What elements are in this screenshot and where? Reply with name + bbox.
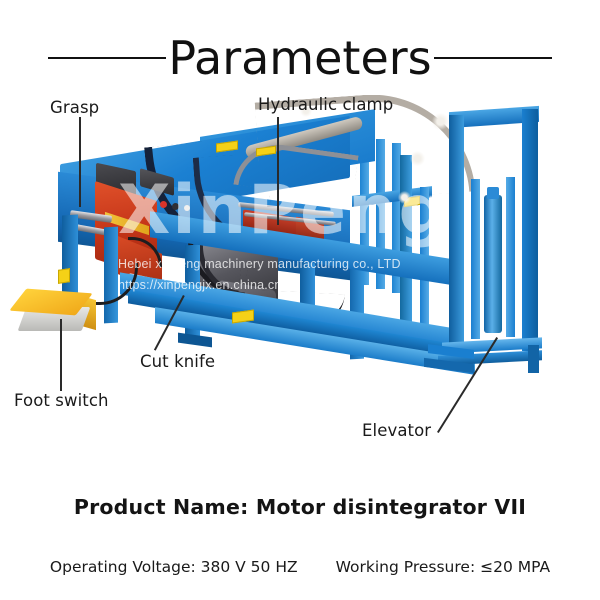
leader-line-hydraulic-clamp <box>277 117 279 225</box>
indicator-lamp <box>160 201 167 208</box>
leader-line-foot-switch <box>60 319 62 391</box>
callout-label-foot-switch: Foot switch <box>14 391 109 410</box>
frame-foot <box>178 333 212 348</box>
elevator-leg <box>528 345 539 373</box>
elevator-cylinder-cap <box>487 187 499 199</box>
sparkle-icon <box>432 113 449 130</box>
product-parameters-page: Parameters <box>0 0 600 600</box>
elevator-hydraulic-cylinder <box>484 195 502 333</box>
title-rule-right-icon <box>434 57 552 59</box>
indicator-lamp <box>184 205 190 211</box>
sparkle-icon <box>410 151 425 166</box>
callout-label-grasp: Grasp <box>50 98 99 117</box>
spec-row: Operating Voltage: 380 V 50 HZ Working P… <box>0 558 600 576</box>
elevator-guide-rail <box>471 179 480 339</box>
title-rule-left-icon <box>48 57 166 59</box>
leader-line-grasp <box>79 117 81 207</box>
page-title: Parameters <box>168 35 431 81</box>
indicator-lamp <box>172 203 179 210</box>
callout-label-hydraulic-clamp: Hydraulic clamp <box>258 95 393 114</box>
product-name: Product Name: Motor disintegrator VII <box>0 495 600 519</box>
elevator-column-left <box>449 115 464 345</box>
warning-sticker <box>58 268 70 284</box>
spec-working-pressure: Working Pressure: ≤20 MPA <box>336 558 550 576</box>
elevator-guide-rail <box>506 177 515 337</box>
callout-label-cut-knife: Cut knife <box>140 352 215 371</box>
page-header: Parameters <box>0 28 600 88</box>
sparkle-icon <box>398 191 411 204</box>
spec-operating-voltage: Operating Voltage: 380 V 50 HZ <box>50 558 298 576</box>
callout-label-elevator: Elevator <box>362 421 431 440</box>
elevator-column-right <box>522 109 538 351</box>
